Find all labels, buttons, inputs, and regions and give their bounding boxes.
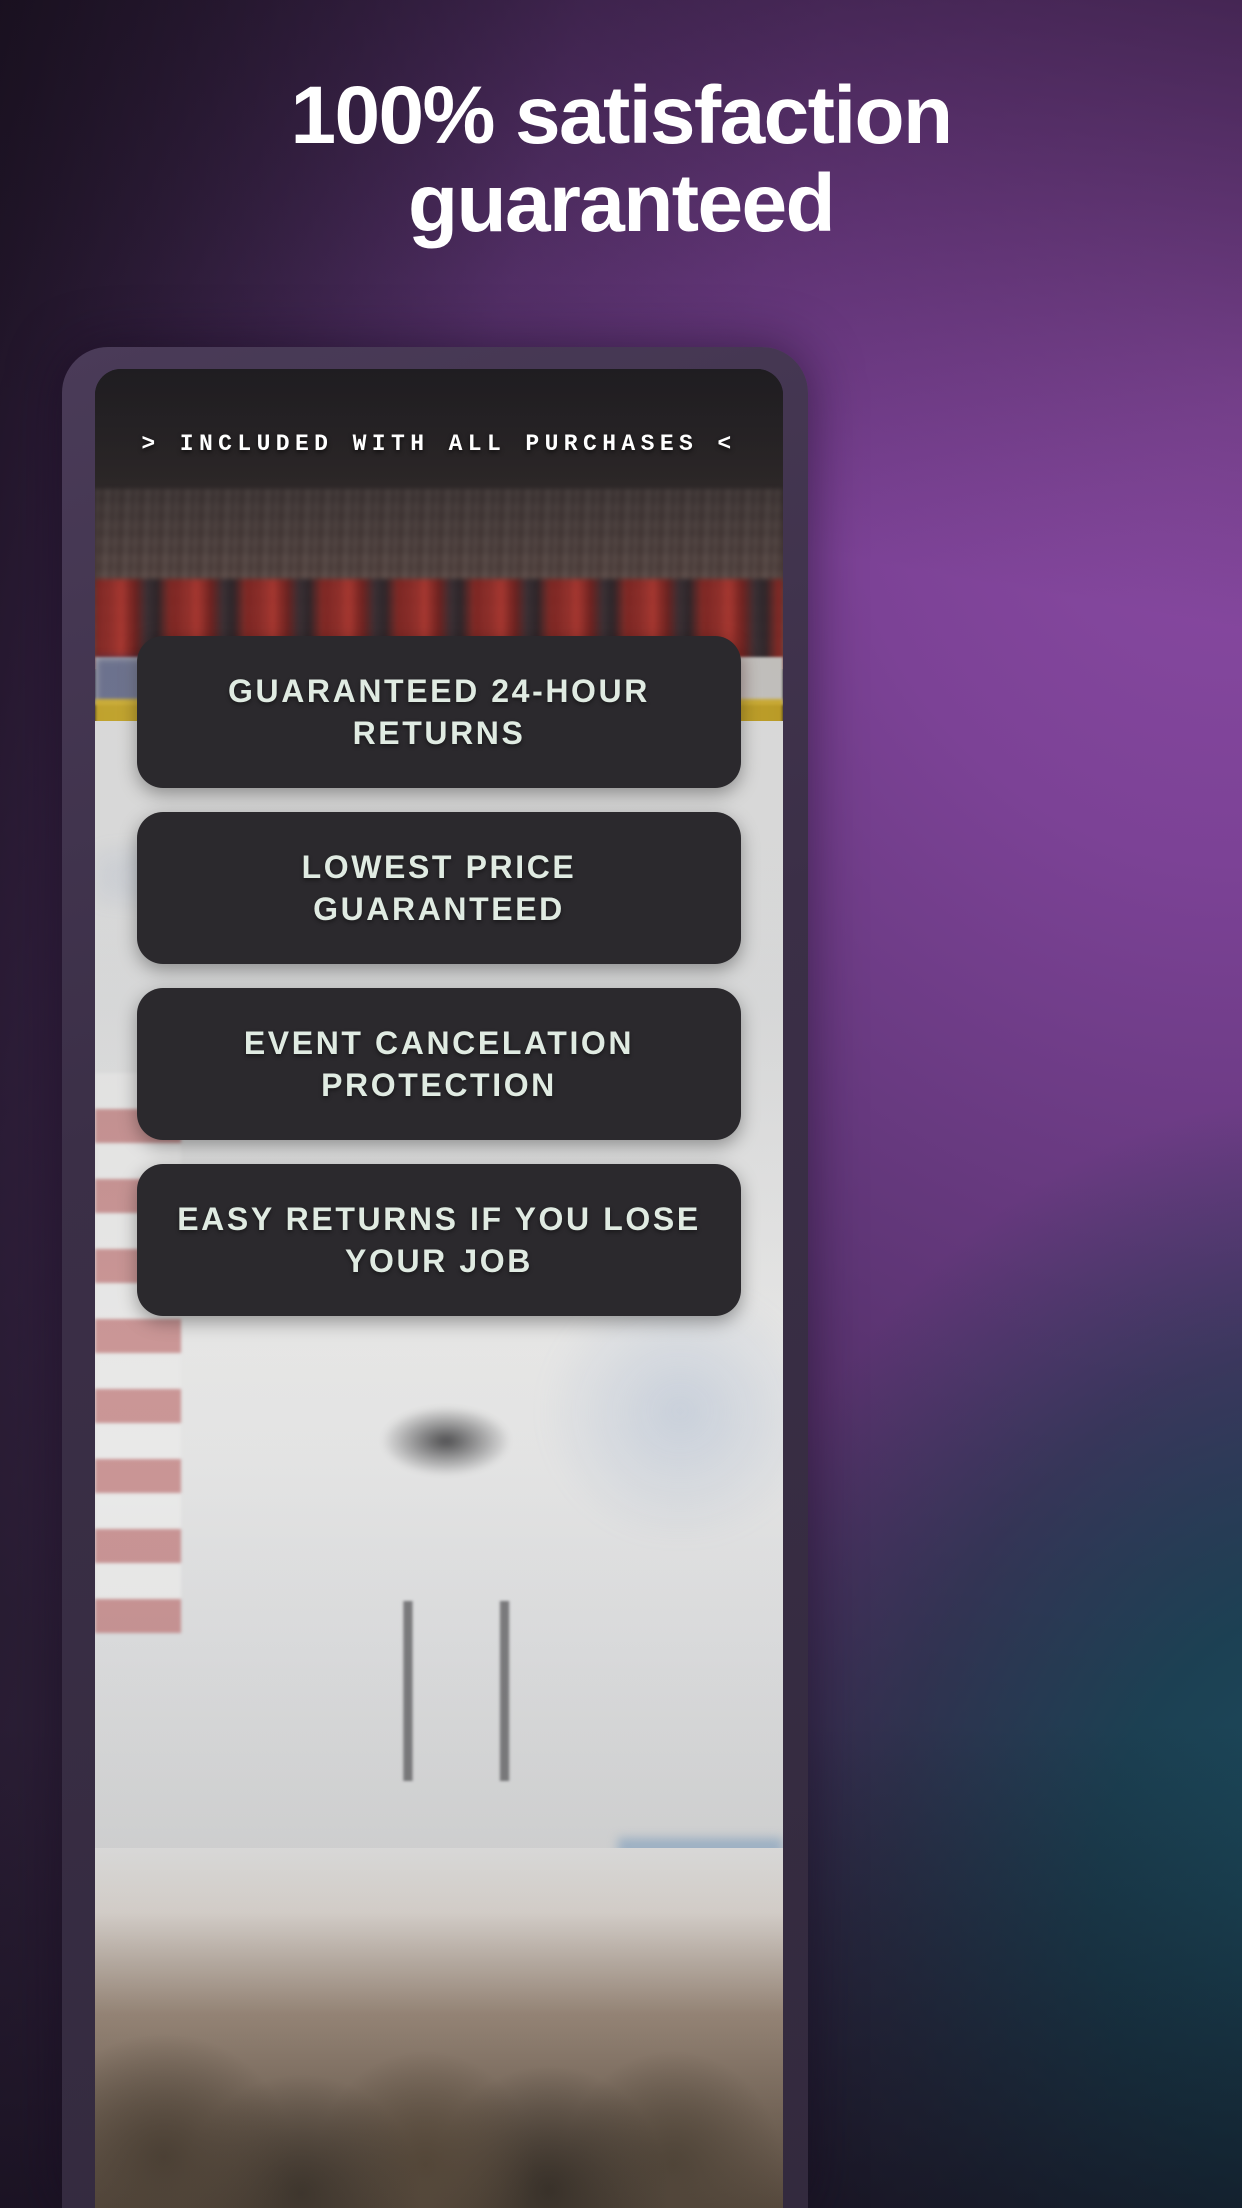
headline-line-2: guaranteed <box>408 158 834 249</box>
phone-screen: > INCLUDED WITH ALL PURCHASES < GUARANTE… <box>95 369 783 2208</box>
benefit-card[interactable]: EASY RETURNS IF YOU LOSE YOUR JOB <box>137 1164 741 1316</box>
promo-headline: 100% satisfaction guaranteed <box>0 72 1242 248</box>
app-store-promo-screenshot: 100% satisfaction guaranteed <box>0 0 1242 2208</box>
benefit-card-list: GUARANTEED 24-HOUR RETURNS LOWEST PRICE … <box>137 636 741 1316</box>
benefit-card[interactable]: EVENT CANCELATION PROTECTION <box>137 988 741 1140</box>
benefit-card-label: EASY RETURNS IF YOU LOSE YOUR JOB <box>171 1198 707 1282</box>
screen-content: > INCLUDED WITH ALL PURCHASES < GUARANTE… <box>95 369 783 2208</box>
eyebrow-label: > INCLUDED WITH ALL PURCHASES < <box>141 431 736 457</box>
benefit-card-label: EVENT CANCELATION PROTECTION <box>171 1022 707 1106</box>
benefit-card[interactable]: LOWEST PRICE GUARANTEED <box>137 812 741 964</box>
benefit-card[interactable]: GUARANTEED 24-HOUR RETURNS <box>137 636 741 788</box>
phone-mockup-frame: > INCLUDED WITH ALL PURCHASES < GUARANTE… <box>62 347 808 2208</box>
benefit-card-label: GUARANTEED 24-HOUR RETURNS <box>171 670 707 754</box>
headline-line-1: 100% satisfaction <box>291 70 952 161</box>
benefit-card-label: LOWEST PRICE GUARANTEED <box>171 846 707 930</box>
